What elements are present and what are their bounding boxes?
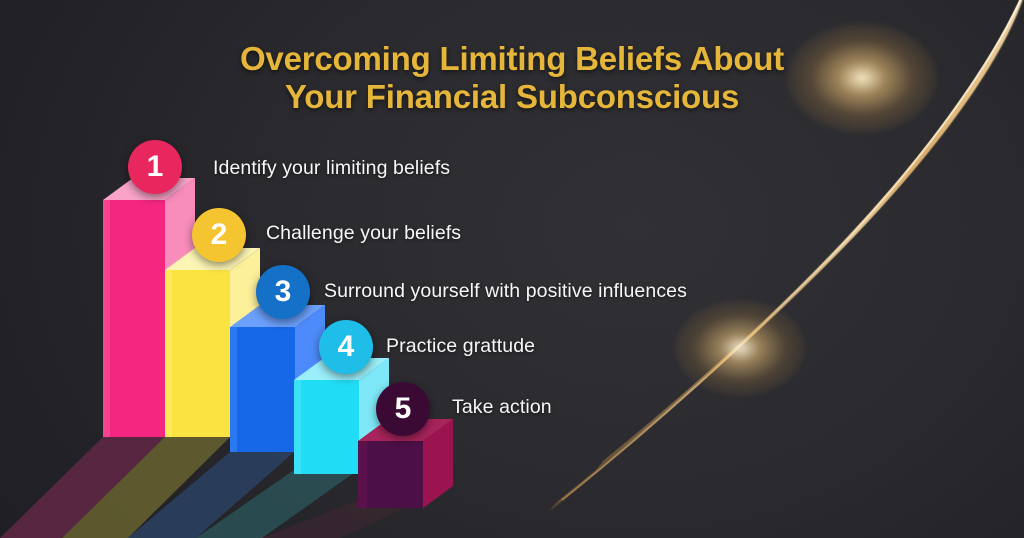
step-number-5[interactable]: 5	[376, 382, 430, 436]
step-number-1[interactable]: 1	[128, 140, 182, 194]
step-number-5-value: 5	[395, 392, 412, 426]
infographic-canvas: Overcoming Limiting Beliefs About Your F…	[0, 0, 1024, 538]
step-label-5: Take action	[452, 396, 552, 419]
step-label-1: Identify your limiting beliefs	[213, 157, 450, 180]
step-label-2: Challenge your beliefs	[266, 222, 461, 245]
step-number-3[interactable]: 3	[256, 265, 310, 319]
step-label-3: Surround yourself with positive influenc…	[324, 280, 687, 303]
step-number-4-value: 4	[338, 330, 355, 364]
step-number-1-value: 1	[147, 150, 164, 184]
step-number-2[interactable]: 2	[192, 208, 246, 262]
step-number-4[interactable]: 4	[319, 320, 373, 374]
step-bar-chart: 1 2 3 4 5 Identify your limiting beliefs…	[0, 0, 1024, 538]
step-label-4: Practice grattude	[386, 335, 535, 358]
step-number-3-value: 3	[275, 275, 292, 309]
step-number-2-value: 2	[211, 218, 228, 252]
